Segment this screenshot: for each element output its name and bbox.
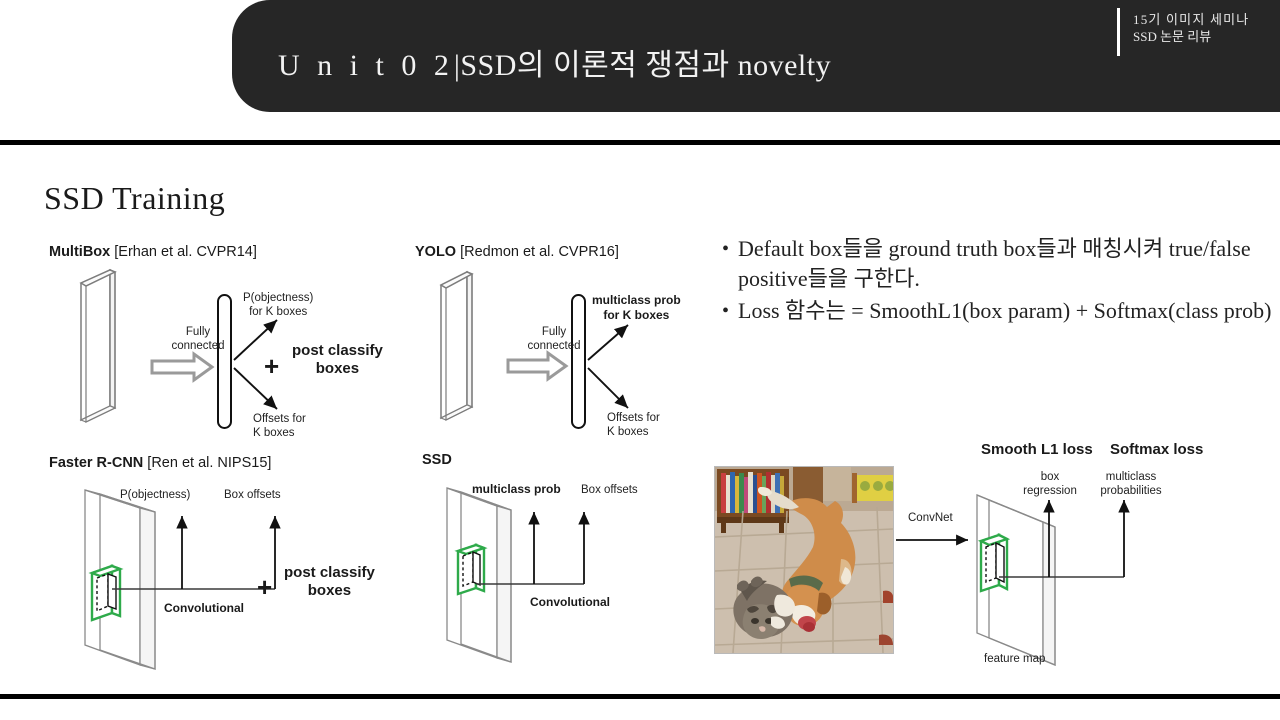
multibox-fc-line1: Fully [162, 325, 234, 339]
header-divider [1117, 8, 1120, 56]
ssd-loss-convnet-label: ConvNet [908, 511, 953, 525]
yolo-output-top: multiclass prob for K boxes [592, 293, 681, 322]
faster-rcnn-plus-sign: + [257, 572, 272, 603]
header-course-info: 15기 이미지 세미나 SSD 논문 리뷰 [1133, 11, 1249, 45]
faster-rcnn-output-left: P(objectness) [120, 488, 190, 502]
yolo-fc-label: Fully connected [518, 325, 590, 353]
yolo-output-bottom-line2: K boxes [607, 425, 660, 439]
ssd-title-name: SSD [422, 452, 452, 468]
faster-rcnn-title-name: Faster R-CNN [49, 455, 143, 471]
ssd-loss-smooth-l1-label: Smooth L1 loss [981, 441, 1093, 459]
header-title: U n i t 0 2|SSD의 이론적 쟁점과 novelty [278, 40, 831, 84]
yolo-title-name: YOLO [415, 244, 456, 260]
yolo-fc-line2: connected [518, 339, 590, 353]
list-item: • Default box들을 ground truth box들과 매칭시켜 … [716, 234, 1276, 294]
ssd-loss-softmax-label: Softmax loss [1110, 441, 1203, 459]
ssd-loss-output-right: multiclass probabilities [1090, 470, 1172, 498]
bullet-list: • Default box들을 ground truth box들과 매칭시켜 … [716, 234, 1276, 328]
ssd-loss-output-left-line2: regression [1019, 484, 1081, 498]
yolo-output-top-line2: for K boxes [592, 308, 681, 323]
faster-rcnn-post-line1: post classify [284, 564, 375, 582]
multibox-output-top: P(objectness) for K boxes [243, 291, 313, 319]
multibox-fc-label: Fully connected [162, 325, 234, 353]
ssd-title: SSD [422, 452, 452, 468]
yolo-output-bottom: Offsets for K boxes [607, 411, 660, 439]
header-bottom-rule [0, 140, 1280, 145]
faster-rcnn-post-classify-label: post classify boxes [284, 564, 375, 600]
bullet-marker: • [716, 296, 738, 326]
faster-rcnn-output-right: Box offsets [224, 488, 281, 502]
dog-cat-photo [714, 466, 894, 654]
multibox-output-bottom-line2: K boxes [253, 426, 306, 440]
photo-artwork [715, 467, 893, 653]
multibox-output-bottom: Offsets for K boxes [253, 412, 306, 440]
list-item: • Loss 함수는 = SmoothL1(box param) + Softm… [716, 296, 1276, 326]
multibox-title: MultiBox [Erhan et al. CVPR14] [49, 244, 257, 260]
footer-rule [0, 694, 1280, 699]
ssd-figure-art [447, 488, 584, 662]
header-course-line1: 15기 이미지 세미나 [1133, 11, 1249, 28]
yolo-citation: [Redmon et al. CVPR16] [456, 244, 619, 260]
multibox-post-line2: boxes [292, 360, 383, 378]
multibox-post-classify-label: post classify boxes [292, 342, 383, 378]
yolo-fc-line1: Fully [518, 325, 590, 339]
header-title-main: SSD의 이론적 쟁점과 novelty [460, 49, 831, 82]
multibox-title-name: MultiBox [49, 244, 110, 260]
header-course-line2: SSD 논문 리뷰 [1133, 28, 1249, 45]
bullet-text: Default box들을 ground truth box들과 매칭시켜 tr… [738, 234, 1276, 294]
ssd-loss-output-right-line2: probabilities [1090, 484, 1172, 498]
multibox-output-top-line2: for K boxes [243, 305, 313, 319]
multibox-output-top-line1: P(objectness) [243, 291, 313, 305]
header-title-unit: U n i t 0 2 [278, 49, 454, 82]
ssd-conv-label: Convolutional [530, 595, 610, 610]
yolo-title: YOLO [Redmon et al. CVPR16] [415, 244, 619, 260]
bullet-text: Loss 함수는 = SmoothL1(box param) + Softmax… [738, 296, 1276, 326]
yolo-output-bottom-line1: Offsets for [607, 411, 660, 425]
multibox-plus-sign: + [264, 351, 279, 382]
yolo-output-top-line1: multiclass prob [592, 293, 681, 308]
ssd-loss-feature-map-label: feature map [984, 652, 1045, 666]
faster-rcnn-citation: [Ren et al. NIPS15] [143, 455, 271, 471]
ssd-output-left: multiclass prob [472, 482, 561, 497]
faster-rcnn-conv-label: Convolutional [164, 601, 244, 616]
multibox-output-bottom-line1: Offsets for [253, 412, 306, 426]
multibox-citation: [Erhan et al. CVPR14] [110, 244, 257, 260]
ssd-loss-output-right-line1: multiclass [1090, 470, 1172, 484]
ssd-output-right: Box offsets [581, 483, 638, 497]
section-title: SSD Training [44, 180, 225, 217]
bullet-marker: • [716, 234, 738, 264]
ssd-loss-output-left-line1: box [1019, 470, 1081, 484]
slide-header: 15기 이미지 세미나 SSD 논문 리뷰 U n i t 0 2|SSD의 이… [0, 0, 1280, 112]
slide-root: 15기 이미지 세미나 SSD 논문 리뷰 U n i t 0 2|SSD의 이… [0, 0, 1280, 720]
faster-rcnn-post-line2: boxes [284, 582, 375, 600]
multibox-fc-line2: connected [162, 339, 234, 353]
faster-rcnn-figure-art [85, 490, 275, 669]
faster-rcnn-title: Faster R-CNN [Ren et al. NIPS15] [49, 455, 271, 471]
multibox-post-line1: post classify [292, 342, 383, 360]
ssd-loss-output-left: box regression [1019, 470, 1081, 498]
